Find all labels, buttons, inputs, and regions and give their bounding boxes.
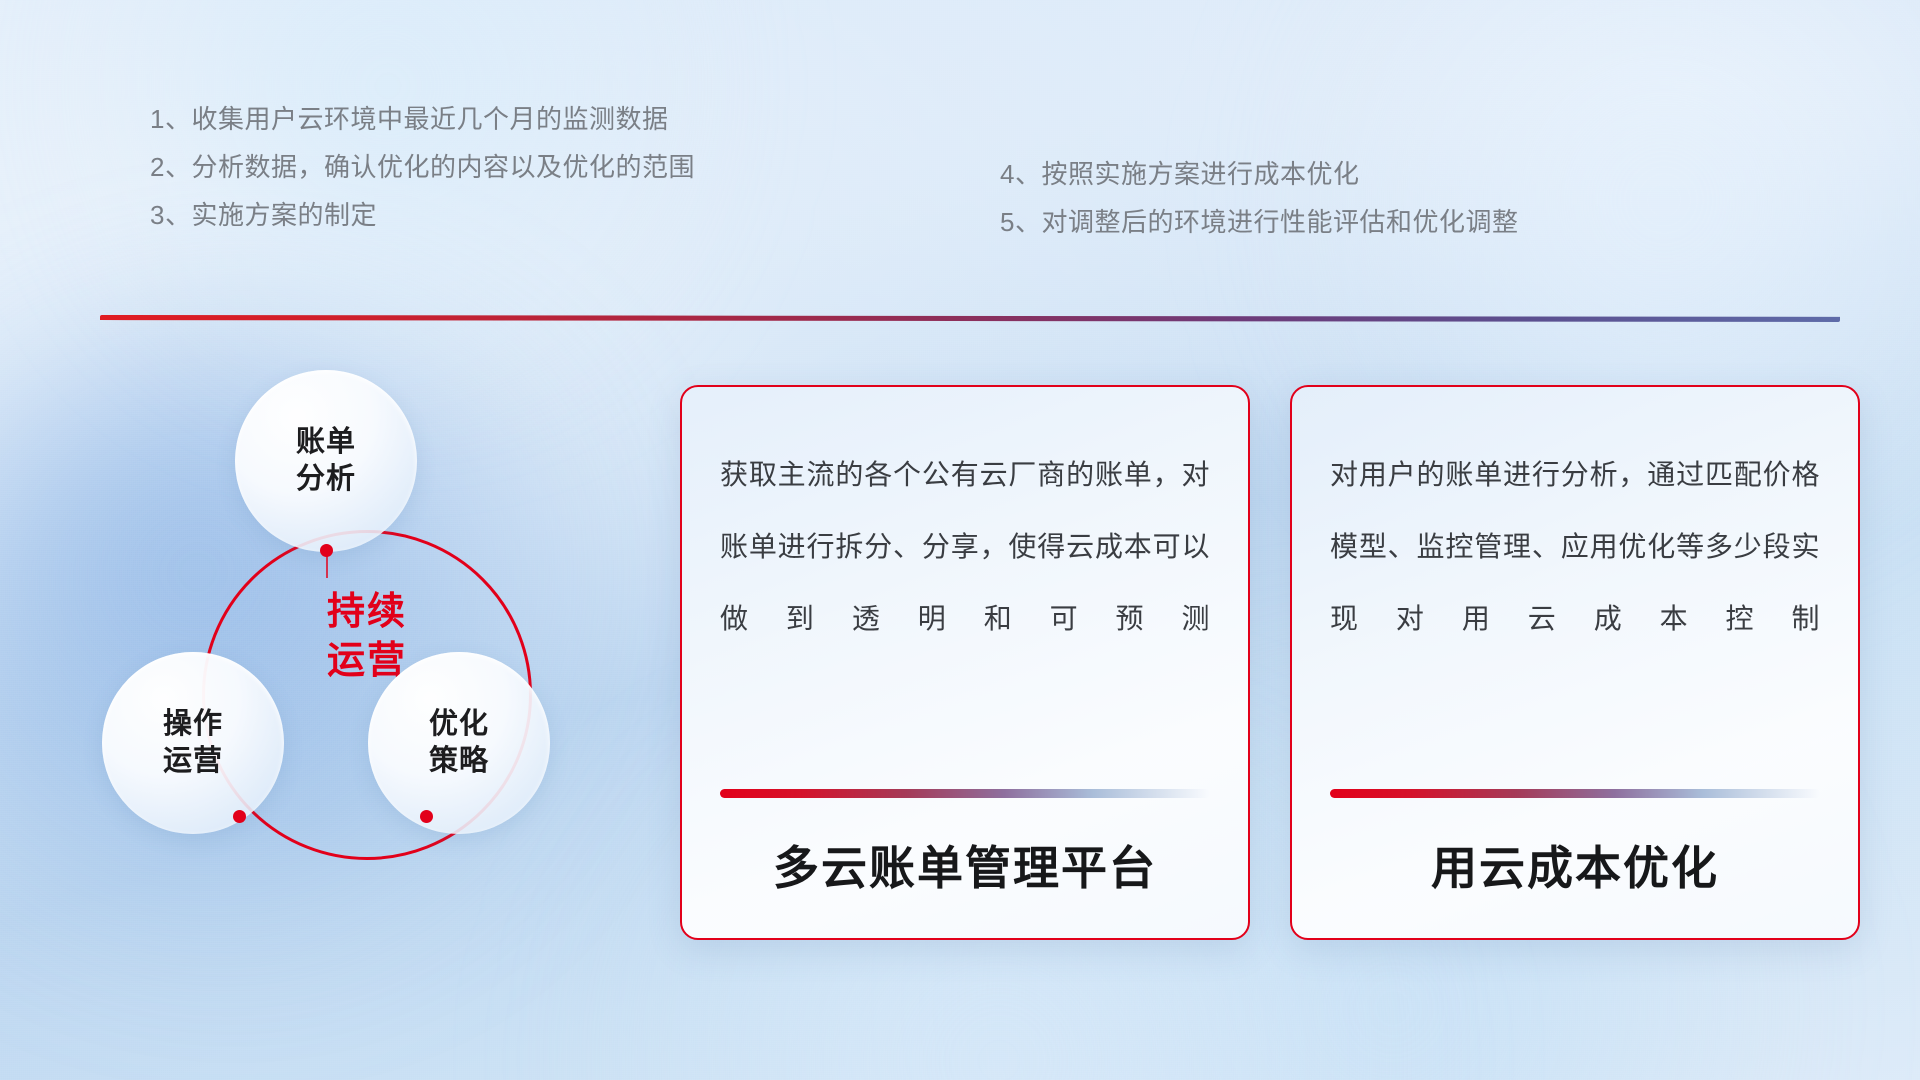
bubble-label-line-2: 策略	[429, 743, 489, 780]
card-body-text: 对用户的账单进行分析，通过匹配价格模型、监控管理、应用优化等多少段实现对用云成本…	[1330, 439, 1820, 655]
bubble-bill-analysis-label: 账单 分析	[296, 424, 356, 498]
bubble-optimization-policy[interactable]: 优化 策略	[368, 652, 550, 834]
node-dot-bottom-left	[233, 810, 246, 823]
card-body-text: 获取主流的各个公有云厂商的账单，对账单进行拆分、分享，使得云成本可以做到透明和可…	[720, 439, 1210, 655]
bubble-label-line-1: 操作	[163, 706, 223, 743]
step-item-3: 3、实施方案的制定	[150, 191, 850, 239]
steps-list-left: 1、收集用户云环境中最近几个月的监测数据 2、分析数据，确认优化的内容以及优化的…	[150, 95, 850, 239]
step-item-5: 5、对调整后的环境进行性能评估和优化调整	[1000, 198, 1720, 246]
node-dot-top	[320, 544, 333, 557]
bubble-bill-analysis[interactable]: 账单 分析	[235, 370, 417, 552]
step-item-2: 2、分析数据，确认优化的内容以及优化的范围	[150, 143, 850, 191]
card-title: 多云账单管理平台	[720, 832, 1210, 938]
bubble-label-line-1: 优化	[429, 706, 489, 743]
continuous-operation-diagram: 持续 运营 账单 分析 操作 运营 优化 策略	[90, 360, 610, 940]
step-item-1: 1、收集用户云环境中最近几个月的监测数据	[150, 95, 850, 143]
bubble-label-line-2: 分析	[296, 461, 356, 498]
node-dot-bottom-right	[420, 810, 433, 823]
card-cloud-cost-optimization[interactable]: 对用户的账单进行分析，通过匹配价格模型、监控管理、应用优化等多少段实现对用云成本…	[1290, 385, 1860, 940]
card-multi-cloud-billing-platform[interactable]: 获取主流的各个公有云厂商的账单，对账单进行拆分、分享，使得云成本可以做到透明和可…	[680, 385, 1250, 940]
card-accent-rule	[1330, 789, 1820, 798]
step-item-4: 4、按照实施方案进行成本优化	[1000, 150, 1720, 198]
card-title: 用云成本优化	[1330, 832, 1820, 938]
bubble-operation-ops-label: 操作 运营	[163, 706, 223, 780]
bubble-optimization-policy-label: 优化 策略	[429, 706, 489, 780]
card-accent-rule	[720, 789, 1210, 798]
bubble-label-line-1: 账单	[296, 424, 356, 461]
steps-list-right: 4、按照实施方案进行成本优化 5、对调整后的环境进行性能评估和优化调整	[1000, 150, 1720, 246]
bubble-operation-ops[interactable]: 操作 运营	[102, 652, 284, 834]
connector-tick-top	[326, 556, 328, 578]
bubble-label-line-2: 运营	[163, 743, 223, 780]
center-label-line-1: 持续	[202, 588, 532, 637]
